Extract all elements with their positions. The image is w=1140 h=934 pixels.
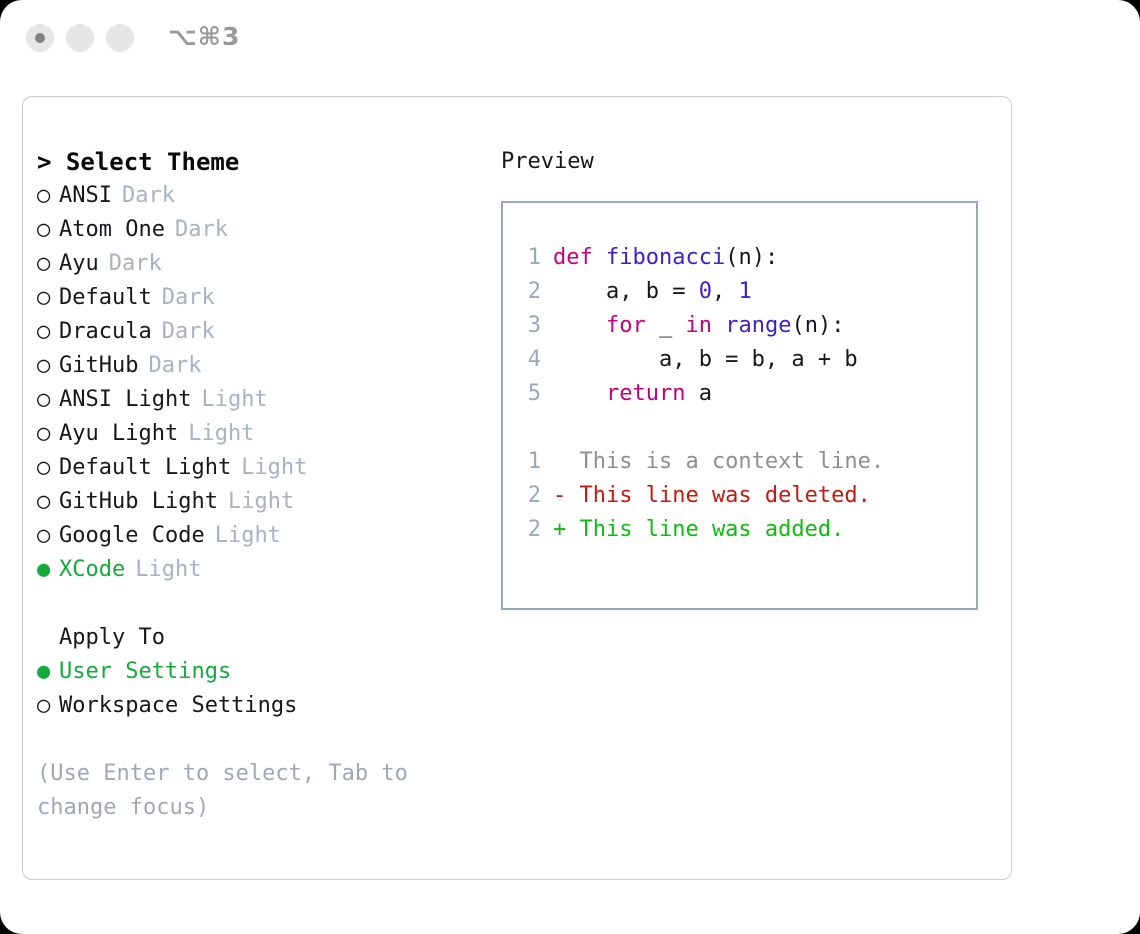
code-token: for (606, 313, 646, 338)
radio-unselected-icon: ○ (37, 247, 59, 281)
radio-unselected-icon: ○ (37, 349, 59, 383)
code-token (593, 245, 606, 270)
code-token: def (553, 245, 593, 270)
theme-option-tag: Light (201, 383, 267, 417)
code-token (553, 381, 606, 406)
code-token (712, 313, 725, 338)
theme-option-default-light[interactable]: ○Default LightLight (37, 451, 477, 485)
code-token: (n): (791, 313, 844, 338)
code-line: 5 return a (517, 377, 976, 411)
code-token: a (685, 381, 712, 406)
diff-line-number: 1 (517, 445, 541, 479)
theme-option-tag: Dark (122, 179, 175, 213)
radio-unselected-icon: ○ (37, 315, 59, 349)
content-panel: > Select Theme ○ANSIDark○Atom OneDark○Ay… (22, 96, 1012, 880)
radio-unselected-icon: ○ (37, 417, 59, 451)
apply-to-option-workspace-settings[interactable]: ○Workspace Settings (37, 689, 477, 723)
code-token: return (606, 381, 685, 406)
theme-option-tag: Light (135, 553, 201, 587)
preview-heading: Preview (501, 145, 991, 179)
keyboard-hint-text: (Use Enter to select, Tab to change focu… (37, 757, 447, 825)
code-token: 0 (699, 279, 712, 304)
theme-option-tag: Dark (162, 281, 215, 315)
theme-option-github[interactable]: ○GitHubDark (37, 349, 477, 383)
diff-line-add: 2+ This line was added. (517, 513, 976, 547)
code-token: 1 (738, 279, 751, 304)
window-titlebar: ⌥⌘3 (0, 0, 1140, 80)
diff-line-number: 2 (517, 513, 541, 547)
code-sample: 1def fibonacci(n):2 a, b = 0, 13 for _ i… (517, 241, 976, 411)
code-line-number: 3 (517, 309, 541, 343)
radio-unselected-icon: ○ (37, 213, 59, 247)
theme-picker-column: > Select Theme ○ANSIDark○Atom OneDark○Ay… (37, 145, 477, 825)
theme-option-tag: Dark (109, 247, 162, 281)
code-token: fibonacci (606, 245, 725, 270)
code-line: 3 for _ in range(n): (517, 309, 976, 343)
code-token: a, b = (553, 279, 699, 304)
theme-option-label: ANSI Light (59, 383, 191, 417)
apply-to-list[interactable]: ●User Settings○Workspace Settings (37, 655, 477, 723)
radio-unselected-icon: ○ (37, 383, 59, 417)
apply-to-heading: Apply To (37, 621, 477, 655)
theme-option-ayu-light[interactable]: ○Ayu LightLight (37, 417, 477, 451)
theme-option-xcode[interactable]: ●XCodeLight (37, 553, 477, 587)
diff-line-text: This is a context line. (553, 449, 884, 474)
window-dot-2[interactable] (66, 24, 94, 52)
theme-option-label: Default (59, 281, 152, 315)
apply-to-option-label: Workspace Settings (59, 689, 297, 723)
window-dot-active[interactable] (26, 24, 54, 52)
code-token: a, b = b, a + b (553, 347, 858, 372)
code-line: 4 a, b = b, a + b (517, 343, 976, 377)
theme-option-label: GitHub (59, 349, 138, 383)
preview-column: Preview 1def fibonacci(n):2 a, b = 0, 13… (501, 145, 991, 610)
code-line: 2 a, b = 0, 1 (517, 275, 976, 309)
theme-option-ayu[interactable]: ○AyuDark (37, 247, 477, 281)
radio-unselected-icon: ○ (37, 179, 59, 213)
select-theme-heading: > Select Theme (37, 145, 477, 179)
theme-option-label: GitHub Light (59, 485, 218, 519)
code-token: , (712, 279, 739, 304)
theme-option-dracula[interactable]: ○DraculaDark (37, 315, 477, 349)
radio-unselected-icon: ○ (37, 519, 59, 553)
section-spacer (37, 587, 477, 621)
theme-list[interactable]: ○ANSIDark○Atom OneDark○AyuDark○DefaultDa… (37, 179, 477, 587)
diff-line-number: 2 (517, 479, 541, 513)
code-diff-spacer (517, 411, 976, 445)
code-line-number: 1 (517, 241, 541, 275)
theme-option-github-light[interactable]: ○GitHub LightLight (37, 485, 477, 519)
theme-option-label: Ayu (59, 247, 99, 281)
code-token: (n): (725, 245, 778, 270)
theme-option-label: ANSI (59, 179, 112, 213)
theme-option-default[interactable]: ○DefaultDark (37, 281, 477, 315)
theme-option-label: XCode (59, 553, 125, 587)
diff-line-del: 2- This line was deleted. (517, 479, 976, 513)
apply-to-option-user-settings[interactable]: ●User Settings (37, 655, 477, 689)
code-line: 1def fibonacci(n): (517, 241, 976, 275)
theme-option-tag: Dark (148, 349, 201, 383)
theme-option-ansi[interactable]: ○ANSIDark (37, 179, 477, 213)
theme-option-label: Atom One (59, 213, 165, 247)
theme-option-label: Default Light (59, 451, 231, 485)
theme-option-label: Google Code (59, 519, 205, 553)
theme-option-google-code[interactable]: ○Google CodeLight (37, 519, 477, 553)
radio-unselected-icon: ○ (37, 281, 59, 315)
code-line-number: 4 (517, 343, 541, 377)
theme-option-label: Dracula (59, 315, 152, 349)
apply-to-option-label: User Settings (59, 655, 231, 689)
theme-option-label: Ayu Light (59, 417, 178, 451)
code-line-number: 2 (517, 275, 541, 309)
radio-unselected-icon: ○ (37, 485, 59, 519)
keyboard-shortcut-label: ⌥⌘3 (168, 22, 240, 51)
theme-option-tag: Light (228, 485, 294, 519)
theme-option-tag: Dark (175, 213, 228, 247)
theme-option-tag: Dark (162, 315, 215, 349)
diff-line-text: + This line was added. (553, 517, 844, 542)
radio-selected-icon: ● (37, 655, 59, 689)
theme-option-tag: Light (241, 451, 307, 485)
theme-option-atom-one[interactable]: ○Atom OneDark (37, 213, 477, 247)
theme-option-ansi-light[interactable]: ○ANSI LightLight (37, 383, 477, 417)
radio-unselected-icon: ○ (37, 451, 59, 485)
code-token (553, 313, 606, 338)
code-token: range (725, 313, 791, 338)
radio-selected-icon: ● (37, 553, 59, 587)
window-dot-3[interactable] (106, 24, 134, 52)
diff-line-text: - This line was deleted. (553, 483, 871, 508)
code-token: in (685, 313, 712, 338)
diff-sample: 1 This is a context line.2- This line wa… (517, 445, 976, 547)
theme-option-tag: Light (215, 519, 281, 553)
code-token: _ (646, 313, 686, 338)
preview-box: 1def fibonacci(n):2 a, b = 0, 13 for _ i… (501, 201, 978, 610)
screenshot-root: ⌥⌘3 > Select Theme ○ANSIDark○Atom OneDar… (0, 0, 1140, 934)
code-line-number: 5 (517, 377, 541, 411)
diff-line-ctx: 1 This is a context line. (517, 445, 976, 479)
theme-option-tag: Light (188, 417, 254, 451)
radio-unselected-icon: ○ (37, 689, 59, 723)
window-dot-active-center (35, 33, 45, 43)
